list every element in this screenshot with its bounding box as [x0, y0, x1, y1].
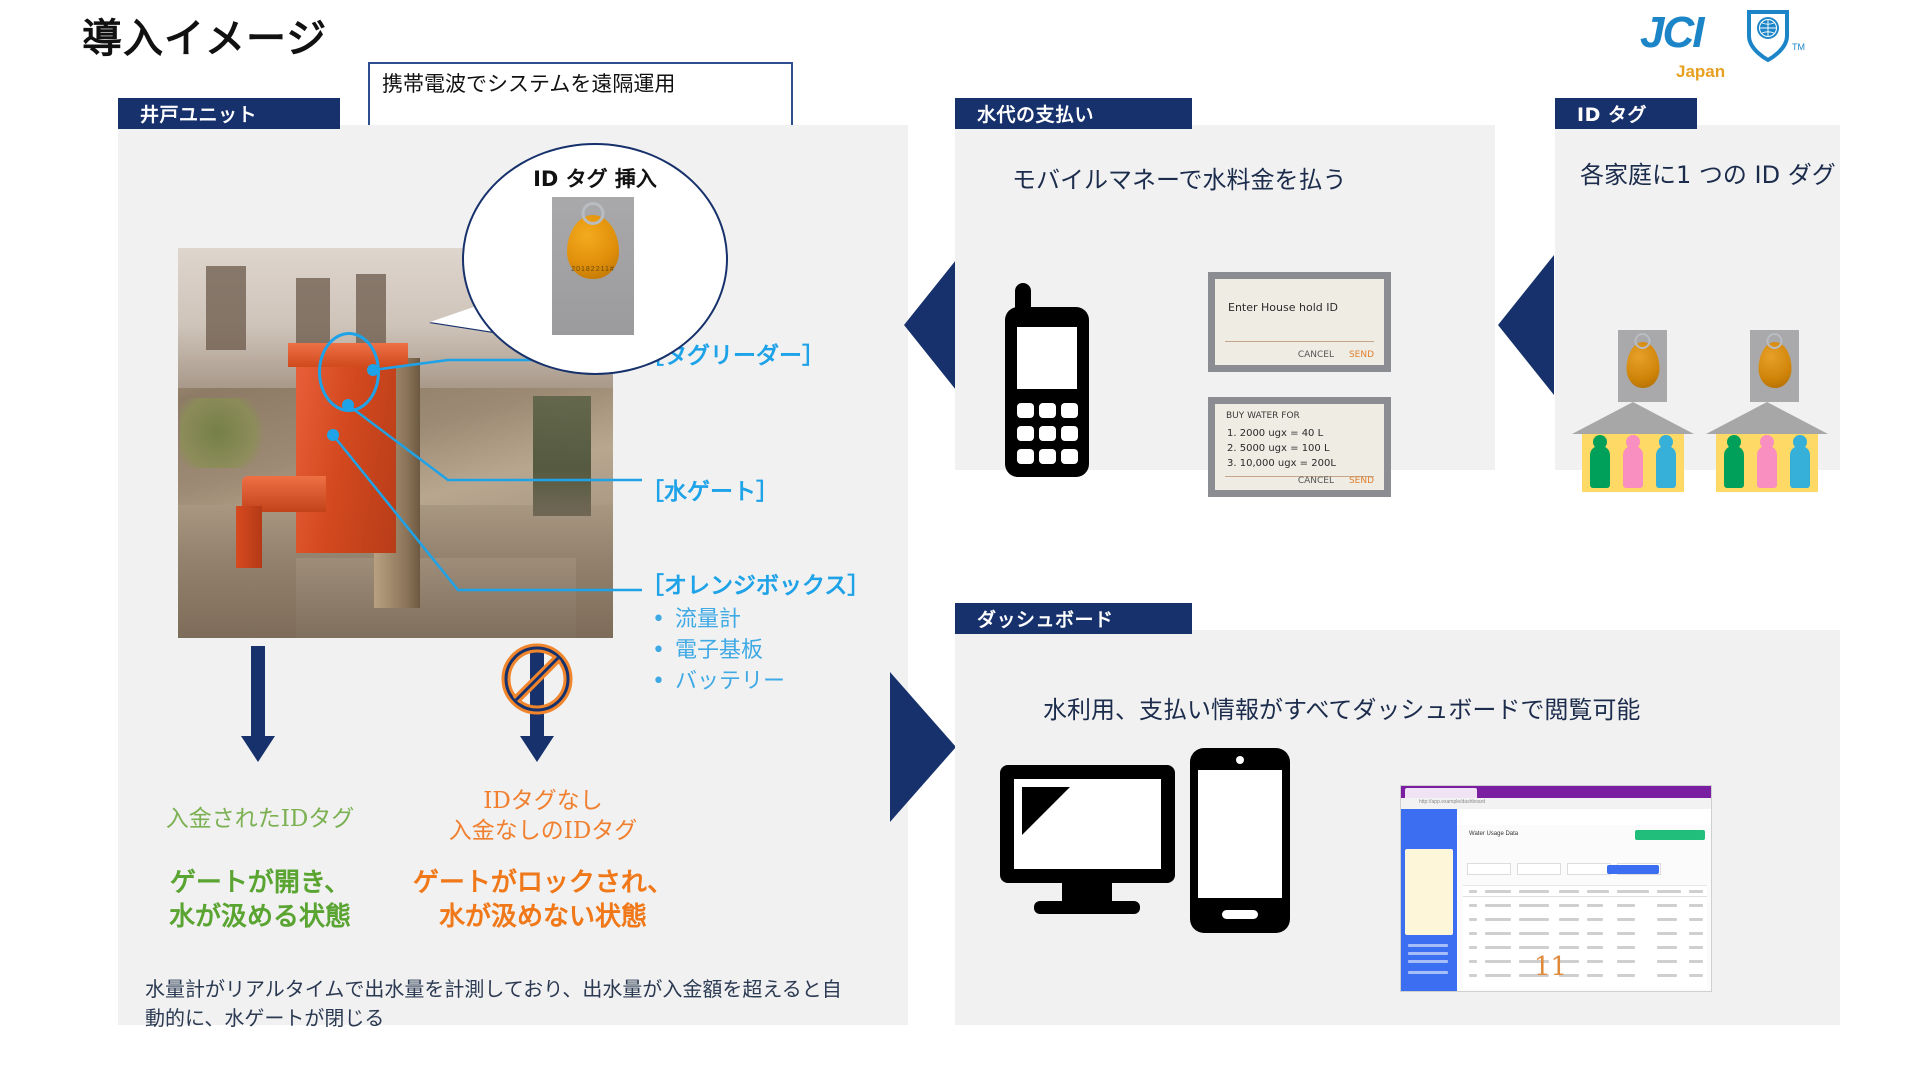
- arrow-idtag-to-payment: [1496, 255, 1556, 395]
- payment-panel-title: 水代の支払い: [955, 98, 1192, 129]
- screen-enter-household-id: Enter House hold ID CANCEL SEND: [1208, 272, 1391, 372]
- jci-logo: JCI TM Japan: [1640, 6, 1840, 88]
- enter-id-prompt: Enter House hold ID: [1228, 301, 1338, 314]
- cancel-button[interactable]: CANCEL: [1298, 476, 1334, 486]
- arrow-payment-to-well: [902, 255, 962, 395]
- buy-water-prompt: BUY WATER FOR: [1226, 411, 1300, 421]
- cancel-button[interactable]: CANCEL: [1298, 350, 1334, 360]
- send-button[interactable]: SEND: [1349, 350, 1374, 360]
- data-table: [1463, 885, 1707, 989]
- id-tag-photo: 20182211#: [552, 197, 634, 335]
- desktop-monitor-icon: [1000, 765, 1175, 915]
- remote-operation-callout: 携帯電波でシステムを遠隔運用: [368, 62, 793, 130]
- jci-shield-icon: [1745, 10, 1791, 62]
- page-number: 11: [1534, 952, 1567, 982]
- key-fob-icon: [1750, 330, 1799, 402]
- key-fob-icon: [1618, 330, 1667, 402]
- banner-text: [1516, 813, 1517, 819]
- page-title: 導入イメージ: [82, 6, 327, 64]
- trademark-symbol: TM: [1792, 42, 1805, 52]
- browser-url: http://app.example/dashboard: [1419, 799, 1485, 805]
- buy-option[interactable]: 2. 5000 ugx = 100 L: [1227, 443, 1330, 454]
- house-icon: [1578, 402, 1688, 492]
- buy-option[interactable]: 1. 2000 ugx = 40 L: [1227, 428, 1323, 439]
- jci-country-label: Japan: [1676, 62, 1725, 82]
- payment-heading: モバイルマネーで水料金を払う: [1012, 160, 1347, 195]
- dashboard-brand: [1405, 813, 1407, 820]
- key-fob-icon: 20182211#: [567, 215, 619, 279]
- tag-number: 20182211#: [567, 266, 619, 273]
- house-icon: [1712, 402, 1822, 492]
- dashboard-app-title: Water Usage Data: [1469, 831, 1518, 837]
- jci-wordmark: JCI: [1640, 8, 1702, 58]
- buy-option[interactable]: 3. 10,000 ugx = 200L: [1227, 458, 1336, 469]
- id-tag-panel-title: ID タグ: [1555, 98, 1697, 129]
- id-tag-insert-label: ID タグ 挿入: [464, 163, 726, 193]
- dashboard-heading: 水利用、支払い情報がすべてダッシュボードで閲覧可能: [1043, 690, 1640, 725]
- screen-buy-water-for: BUY WATER FOR 1. 2000 ugx = 40 L 2. 5000…: [1208, 397, 1391, 497]
- tablet-device-icon: [1190, 748, 1290, 933]
- id-tag-insert-bubble: ID タグ 挿入 20182211#: [462, 143, 728, 375]
- download-button[interactable]: [1635, 830, 1705, 840]
- send-button[interactable]: SEND: [1349, 476, 1374, 486]
- feature-phone-icon: [1003, 283, 1091, 479]
- id-tag-heading: 各家庭に1 つの ID ダグ: [1580, 155, 1836, 190]
- search-button[interactable]: [1607, 865, 1659, 874]
- dashboard-panel-title: ダッシュボード: [955, 603, 1192, 634]
